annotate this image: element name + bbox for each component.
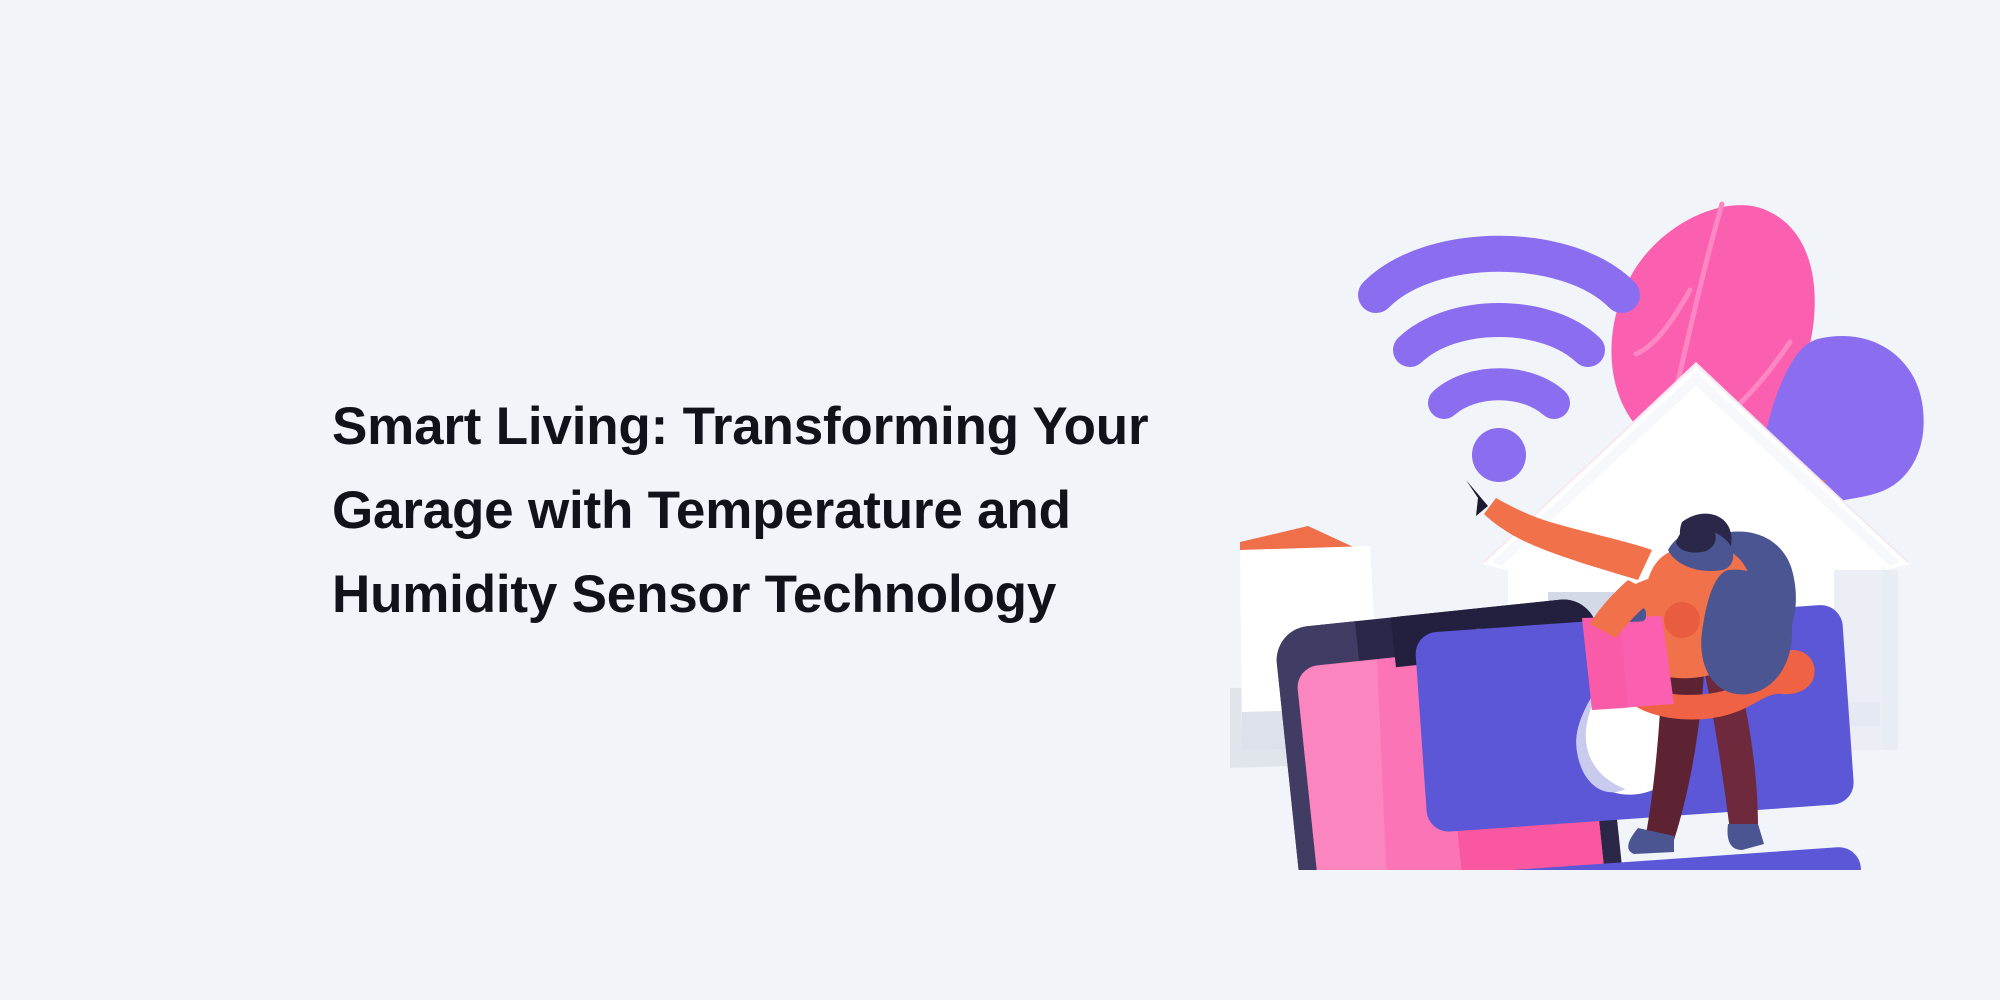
smart-home-illustration	[1230, 150, 1930, 870]
hero-banner: Smart Living: Transforming Your Garage w…	[0, 0, 2000, 1000]
page-title: Smart Living: Transforming Your Garage w…	[332, 385, 1152, 637]
wifi-icon	[1376, 254, 1622, 482]
